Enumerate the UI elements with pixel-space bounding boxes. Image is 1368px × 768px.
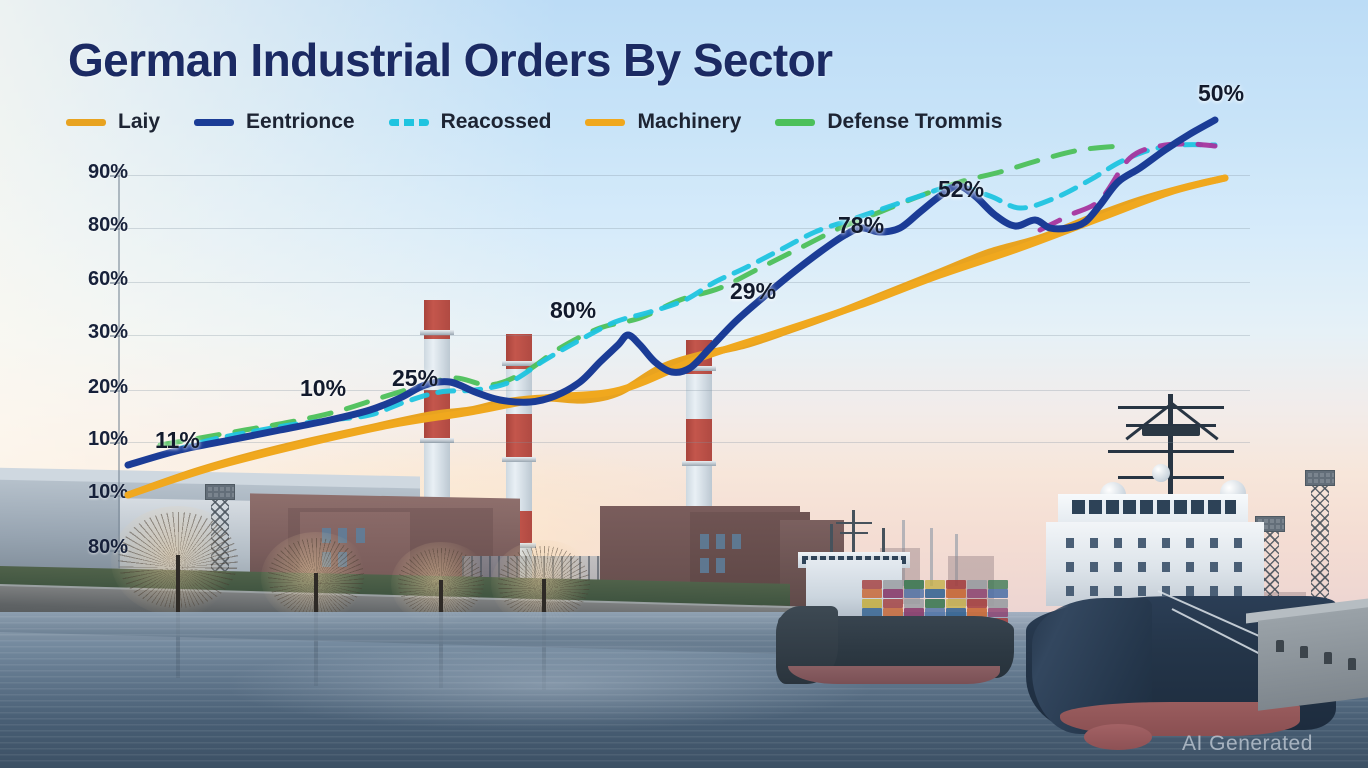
ai-generated-watermark: AI Generated (1182, 732, 1313, 756)
data-label-7: 50% (1198, 80, 1244, 107)
chart-series-lines (0, 0, 1368, 768)
data-label-4: 29% (730, 278, 776, 305)
data-label-5: 78% (838, 212, 884, 239)
data-label-1: 10% (300, 375, 346, 402)
screenshot-stage: German Industrial Orders By Sector LaiyE… (0, 0, 1368, 768)
series-line-eentrionce (128, 120, 1215, 465)
data-label-6: 52% (938, 176, 984, 203)
data-label-2: 25% (392, 365, 438, 392)
data-label-0: 11% (155, 427, 200, 454)
data-label-3: 80% (550, 297, 596, 324)
chart-overlay: German Industrial Orders By Sector LaiyE… (0, 0, 1368, 768)
series-line-reacossed (175, 145, 1215, 450)
